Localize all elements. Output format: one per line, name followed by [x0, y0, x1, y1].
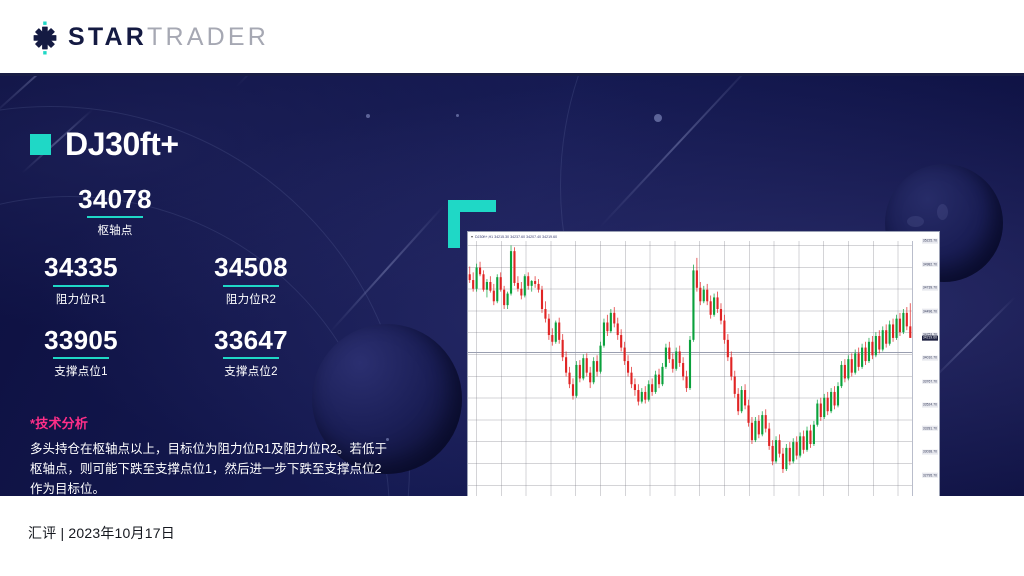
page-title: DJ30ft+: [65, 128, 179, 160]
price-tick: 35225.70: [922, 239, 938, 244]
pivot-underline: [87, 216, 143, 218]
price-tick: 33038.70: [922, 450, 938, 455]
price-tick: 33524.70: [922, 403, 938, 408]
resistance-2-label: 阻力位R2: [200, 291, 302, 307]
brand-logo[interactable]: STARTRADER: [28, 21, 269, 55]
asterisk-star-icon: [28, 21, 62, 55]
support-2-label: 支撑点位2: [200, 363, 302, 379]
pivot-underline: [53, 357, 109, 359]
price-tick: 34739.70: [922, 285, 938, 290]
support-2-cell: 33647 支撑点位2: [200, 327, 302, 379]
chart-plot-area: [468, 241, 912, 496]
price-tick: 32795.70: [922, 473, 938, 478]
support-1-cell: 33905 支撑点位1: [30, 327, 132, 379]
brand-name-trader: TRADER: [147, 23, 269, 51]
resistance-row: 34335 阻力位R1 34508 阻力位R2: [30, 254, 430, 306]
support-row: 33905 支撑点位1 33647 支撑点位2: [30, 327, 430, 379]
resistance-1-label: 阻力位R1: [30, 291, 132, 307]
dot-decoration: [456, 114, 459, 117]
resistance-2-cell: 34508 阻力位R2: [200, 254, 302, 306]
price-tick: 34982.70: [922, 262, 938, 267]
price-tick: 34010.70: [922, 356, 938, 361]
resistance-1-cell: 34335 阻力位R1: [30, 254, 132, 306]
main-stage: DJ30ft+ 34078 枢轴点 34335 阻力位R1 34508 阻力位R…: [0, 76, 1024, 496]
candlestick-series: [468, 241, 912, 496]
instrument-title-row: DJ30ft+: [30, 128, 430, 160]
analysis-body: 多头持仓在枢轴点以上，目标位为阻力位R1及阻力位R2。若低于枢轴点，则可能下跌至…: [30, 439, 390, 496]
pivot-underline: [223, 357, 279, 359]
support-1-value: 33905: [30, 327, 132, 354]
analysis-heading: *技术分析: [30, 413, 430, 432]
resistance-1-value: 34335: [30, 254, 132, 281]
footer-caption: 汇评 | 2023年10月17日: [28, 523, 175, 543]
resistance-2-value: 34508: [200, 254, 302, 281]
price-chart[interactable]: ▾ DJ30ft+,H1 34215.30 34237.60 34207.40 …: [467, 231, 940, 496]
page-header: STARTRADER: [0, 0, 1024, 75]
price-tick: 33281.70: [922, 426, 938, 431]
chart-title: DJ30ft+,H1 34215.30 34237.60 34207.40 34…: [475, 235, 557, 239]
pivot-underline: [53, 285, 109, 287]
chart-collapse-icon[interactable]: ▾: [471, 234, 473, 239]
current-price-tag: 34219.60: [922, 336, 938, 341]
pivot-underline: [223, 285, 279, 287]
dot-decoration: [366, 114, 370, 118]
technical-analysis: *技术分析 多头持仓在枢轴点以上，目标位为阻力位R1及阻力位R2。若低于枢轴点，…: [30, 413, 430, 496]
pivot-point-value: 34078: [30, 186, 200, 213]
price-tick: 33767.70: [922, 379, 938, 384]
chart-title-bar: ▾ DJ30ft+,H1 34215.30 34237.60 34207.40 …: [468, 232, 939, 241]
pivot-levels: 34078 枢轴点 34335 阻力位R1 34508 阻力位R2 33: [30, 186, 430, 379]
price-tick: 34496.70: [922, 309, 938, 314]
support-2-value: 33647: [200, 327, 302, 354]
pivot-point-label: 枢轴点: [30, 222, 200, 238]
support-1-label: 支撑点位1: [30, 363, 132, 379]
instrument-panel: DJ30ft+ 34078 枢轴点 34335 阻力位R1 34508 阻力位R…: [30, 128, 430, 496]
title-bullet-square-icon: [30, 134, 51, 155]
page-footer: 汇评 | 2023年10月17日: [0, 496, 1024, 576]
brand-name-star: STAR: [68, 23, 147, 51]
dot-decoration: [654, 114, 662, 122]
pivot-point-cell: 34078 枢轴点: [30, 186, 200, 238]
price-axis[interactable]: 35225.7034982.7034739.7034496.7034253.70…: [912, 241, 939, 496]
